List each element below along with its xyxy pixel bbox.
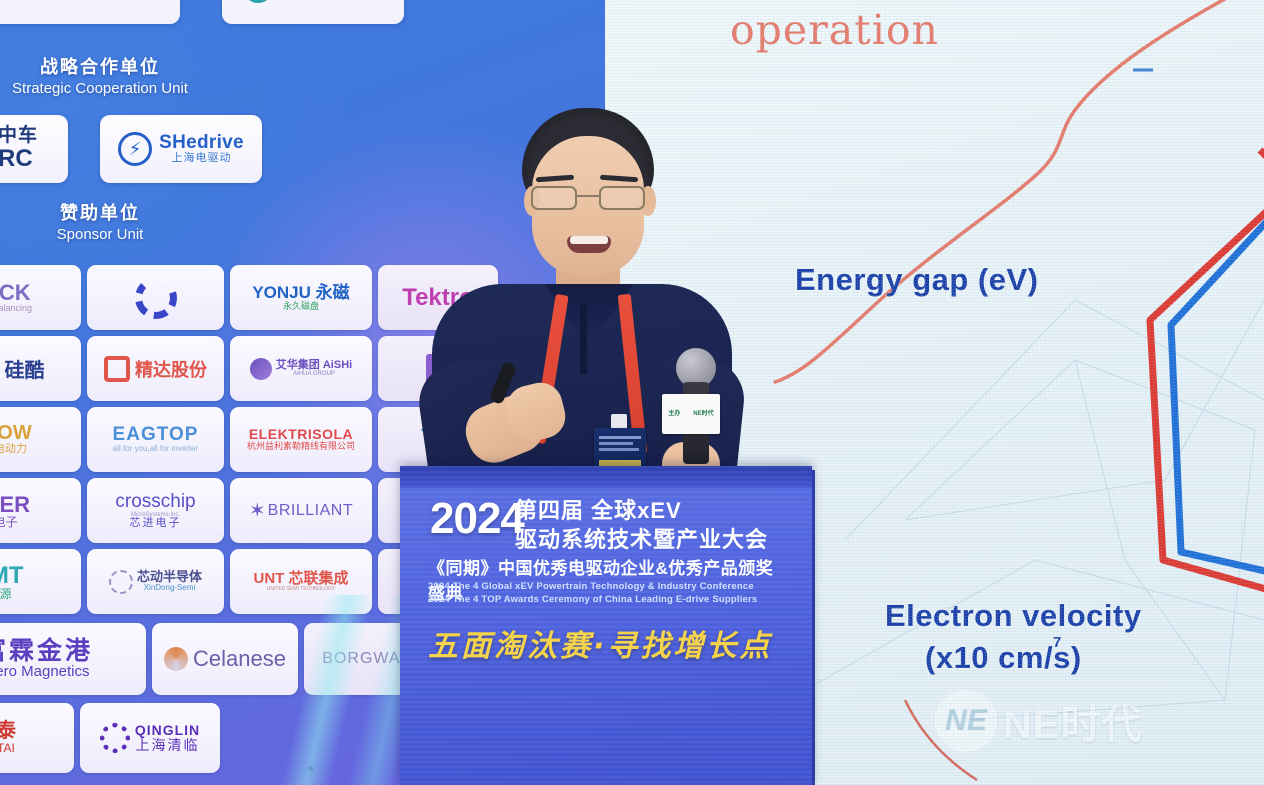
sponsor-r2c1-t1: Cool 硅酷 bbox=[0, 354, 45, 383]
sponsor-r5c3-t1: UNT 芯联集成 bbox=[254, 571, 349, 587]
screenshot-root: 电动车辆专业委员会 Electric Vehicle Professional … bbox=[0, 0, 1264, 785]
crrc-en: CRRC bbox=[0, 146, 38, 171]
sponsor-r4c2-t2: 芯进电子 bbox=[115, 518, 195, 530]
brilliant-star-icon: ✶ bbox=[249, 498, 266, 523]
glasses-bridge bbox=[577, 195, 599, 197]
microphone-flag: 主办 NE时代 bbox=[662, 394, 720, 434]
sponsor-r5c1-t2: 能源 bbox=[0, 588, 24, 601]
sponsor-r5c2-t2: XinDong-Semi bbox=[137, 584, 202, 592]
badge-line-2 bbox=[599, 442, 633, 445]
shedrive-en: SHedrive bbox=[159, 133, 244, 153]
sponsor-tile-r1c1: ENCK on for Balancing bbox=[0, 265, 81, 330]
strategic-logo-shedrive: ⚡ SHedrive 上海电驱动 bbox=[100, 115, 262, 183]
jingda-square-icon bbox=[104, 356, 130, 382]
speaker-teeth bbox=[570, 236, 608, 244]
sponsor-r6c1-t1: 富霖金港 bbox=[0, 638, 93, 664]
sponsor-r4c2-t1: crosschip bbox=[115, 492, 195, 512]
speaker-person: 主办 NE时代 bbox=[404, 108, 764, 500]
sponsor-tile-r7c1: ⅈ 泰 TAI bbox=[0, 703, 74, 773]
handheld-microphone: 主办 NE时代 bbox=[676, 348, 716, 464]
sponsor-r3c1-t2: 阳光电动力 bbox=[0, 444, 32, 456]
sponsor-r2c3-t1: 艾华集团 AiSHi bbox=[276, 360, 352, 372]
sponsor-tile-r1c2 bbox=[87, 265, 224, 330]
sponsor-r3c2-t1: EAGTOP bbox=[113, 425, 199, 445]
shedrive-zh: 上海电驱动 bbox=[159, 153, 244, 165]
slide-label-electron-velocity: Electron velocity bbox=[885, 598, 1142, 634]
sponsor-r7c2-t2: 上海清临 bbox=[135, 738, 200, 753]
sponsor-r3c3-t1: ELEKTRISOLA bbox=[247, 427, 355, 442]
sponsor-r3c2-t2: all for you,all for inverter bbox=[113, 445, 199, 453]
sponsor-r3c1-t1: GROW bbox=[0, 423, 32, 444]
mic-flag-right-text: NE时代 bbox=[693, 411, 713, 418]
strategic-logo-crrc: 中国中车 CRRC bbox=[0, 115, 68, 183]
podium-year: 2024 bbox=[430, 494, 524, 544]
glasses-lens-left bbox=[531, 186, 577, 210]
backdrop-dot bbox=[308, 766, 313, 771]
slide-label-energy-gap: Energy gap (eV) bbox=[795, 262, 1039, 298]
sponsor-r2c3-t2: AIHUA GROUP bbox=[276, 371, 352, 377]
sponsor-r3c3-t2: 杭州益利素勒精线有限公司 bbox=[247, 442, 355, 451]
sponsor-r7c1-t2: TAI bbox=[0, 742, 16, 755]
podium-english-line2: 2024 The 4 TOP Awards Ceremony of China … bbox=[428, 594, 788, 605]
sponsor-r5c3-t2: UNITED SEMI TECHNOLOGY bbox=[254, 587, 349, 592]
sponsor-tile-r1c3: YONJU 永磁 永久磁盘 bbox=[230, 265, 372, 330]
crrc-zh: 中国中车 bbox=[0, 126, 38, 146]
watermark-text: NE时代 bbox=[1003, 692, 1143, 750]
sponsor-tile-r3c1: GROW 阳光电动力 bbox=[0, 407, 81, 472]
sponsor-r1c1-t2: on for Balancing bbox=[0, 304, 32, 313]
sponsor-r1c3-t1: YONJU 永磁 bbox=[252, 284, 349, 302]
evpc-emblem-icon bbox=[0, 0, 2, 2]
sponsor-r6c2-t1: Celanese bbox=[193, 646, 286, 672]
glasses-lens-right bbox=[599, 186, 645, 210]
podium-title-line1: 第四届 全球xEV bbox=[515, 493, 682, 525]
header-logo-tile-1: 电动车辆专业委员会 Electric Vehicle Professional … bbox=[0, 0, 180, 24]
sponsor-tile-r3c3: ELEKTRISOLA 杭州益利素勒精线有限公司 bbox=[230, 407, 372, 472]
podium-title-line2: 驱动系统技术暨产业大会 bbox=[515, 522, 768, 554]
shedrive-bolt-icon: ⚡ bbox=[118, 132, 152, 166]
sponsor-tile-r5c2: 芯动半导体 XinDong-Semi bbox=[87, 549, 224, 614]
sponsor-tile-r2c2: 精达股份 bbox=[87, 336, 224, 401]
ring-logo-icon bbox=[135, 277, 177, 319]
sponsor-tile-r4c1: ENER 微电子 bbox=[0, 478, 81, 543]
speaker-shirt-placket bbox=[580, 304, 587, 374]
mic-flag-left-text: 主办 bbox=[668, 411, 680, 418]
sponsor-r6c1-t2: Hero Magnetics bbox=[0, 664, 93, 680]
sponsor-tile-r2c1: Cool 硅酷 bbox=[0, 336, 81, 401]
sponsor-tile-r3c2: EAGTOP all for you,all for inverter bbox=[87, 407, 224, 472]
sponsor-tile-r6c2: Celanese bbox=[152, 623, 298, 695]
aihua-emblem-icon bbox=[250, 358, 272, 380]
sponsor-r5c1-t1: eMT bbox=[0, 563, 24, 588]
sponsor-r4c1-t2: 微电子 bbox=[0, 516, 30, 529]
speaker-mouth bbox=[567, 236, 611, 253]
qinglin-gear-icon bbox=[100, 723, 130, 753]
sponsor-unit-caption: 赞助单位 Sponsor Unit bbox=[0, 202, 310, 244]
strategic-caption-en: Strategic Cooperation Unit bbox=[0, 79, 310, 99]
csae-emblem-icon bbox=[243, 0, 273, 3]
badge-line-3 bbox=[599, 448, 639, 451]
slide-superscript-exponent: 7 bbox=[1053, 634, 1061, 651]
xindong-circle-icon bbox=[109, 570, 133, 594]
sponsor-r2c2-t1: 精达股份 bbox=[135, 356, 207, 382]
sponsor-r4c1-t1: ENER bbox=[0, 493, 30, 516]
conference-podium: 2024 第四届 全球xEV 驱动系统技术暨产业大会 《同期》中国优秀电驱动企业… bbox=[400, 466, 812, 785]
sponsor-tile-r2c3: 艾华集团 AiSHi AIHUA GROUP bbox=[230, 336, 372, 401]
sponsor-tile-r5c1: eMT 能源 bbox=[0, 549, 81, 614]
sponsor-r5c2-t1: 芯动半导体 bbox=[137, 570, 202, 584]
speaker-glasses bbox=[529, 186, 649, 212]
sponsor-r1c1-t1: ENCK bbox=[0, 281, 32, 304]
watermark-logo-icon: NE bbox=[935, 690, 997, 752]
strategic-cooperation-caption: 战略合作单位 Strategic Cooperation Unit bbox=[0, 56, 310, 98]
podium-english-line1: 2024 The 4 Global xEV Powertrain Technol… bbox=[428, 581, 788, 592]
celanese-swirl-icon bbox=[164, 647, 188, 671]
sponsor-tile-r4c3: ✶ BRILLIANT bbox=[230, 478, 372, 543]
sponsor-tile-r7c2: QINGLIN 上海清临 bbox=[80, 703, 220, 773]
sponsor-r4c3-t1: BRILLIANT bbox=[268, 502, 353, 520]
strategic-caption-zh: 战略合作单位 bbox=[0, 56, 310, 79]
sponsor-caption-zh: 赞助单位 bbox=[0, 202, 310, 225]
sponsor-r1c3-t2: 永久磁盘 bbox=[252, 302, 349, 311]
slide-title-operation: operation bbox=[730, 6, 939, 54]
header-logo-tile-2: 中国汽车工程学会 bbox=[222, 0, 404, 24]
badge-line-1 bbox=[599, 436, 641, 439]
sponsor-r7c1-t1: 泰 bbox=[0, 721, 16, 742]
watermark-ne-era: NE NE时代 bbox=[935, 690, 1143, 752]
sponsor-tile-r5c3: UNT 芯联集成 UNITED SEMI TECHNOLOGY bbox=[230, 549, 372, 614]
sponsor-tile-r4c2: crosschip MicroSystems,Inc. 芯进电子 bbox=[87, 478, 224, 543]
sponsor-r7c2-t1: QINGLIN bbox=[135, 723, 200, 738]
sponsor-tile-r6c1: 富霖金港 Hero Magnetics bbox=[0, 623, 146, 695]
sponsor-caption-en: Sponsor Unit bbox=[0, 225, 310, 245]
podium-slogan: 五面淘汰赛·寻找增长点 bbox=[428, 621, 778, 665]
watermark-mark: NE bbox=[945, 704, 987, 738]
